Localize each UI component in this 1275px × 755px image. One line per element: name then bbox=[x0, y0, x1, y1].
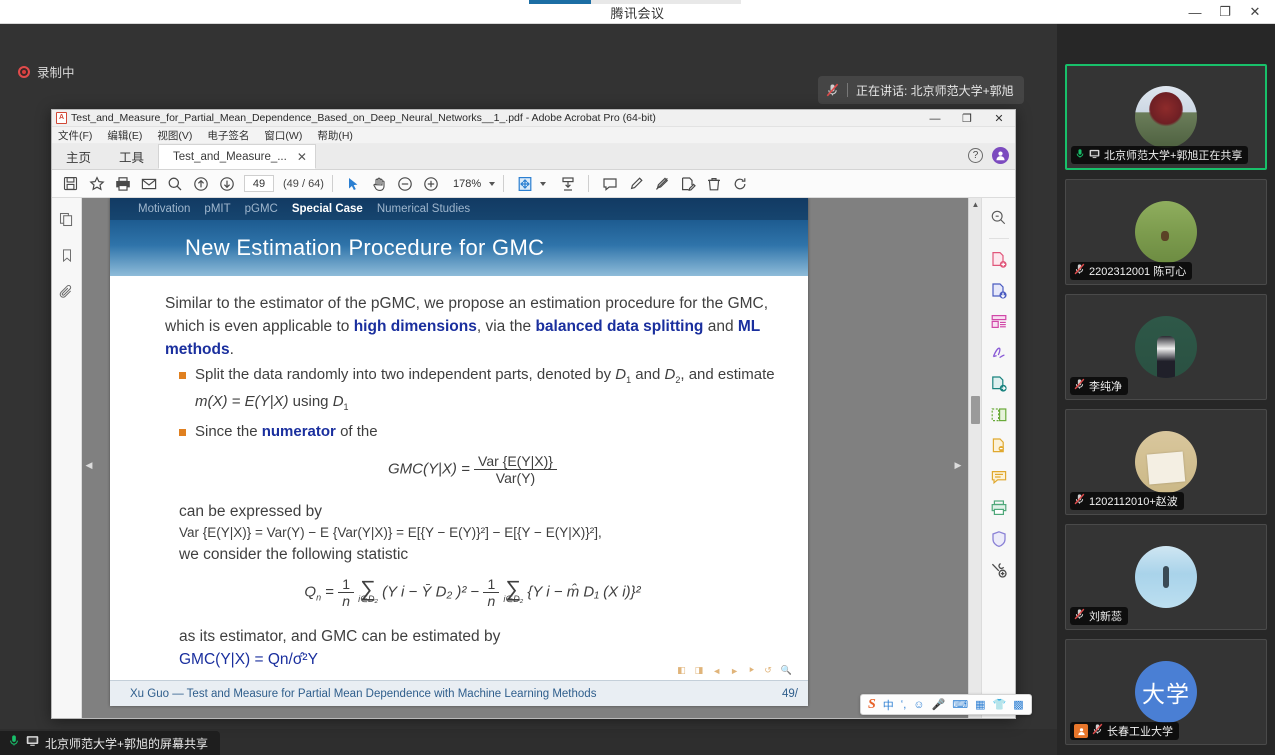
meeting-body: 陈可心 +8618812733626 陈可心 +8618812733626 陈可… bbox=[0, 24, 1275, 755]
pdf-canvas[interactable]: Motivation pMIT pGMC Special Case Numeri… bbox=[82, 198, 981, 718]
slide-footer-author-title: Xu Guo — Test and Measure for Partial Me… bbox=[130, 688, 596, 700]
avatar: 大学 bbox=[1135, 661, 1197, 723]
mic-on-icon bbox=[8, 734, 20, 752]
intro-highlight-high-dimensions: high dimensions bbox=[354, 318, 477, 335]
screen-root: 腾讯会议 — ❐ ✕ 陈可心 +8618812733626 陈可心 +86188… bbox=[0, 0, 1275, 755]
formula-qn-frac-1-num: 1 bbox=[338, 576, 354, 592]
zoom-in-icon[interactable] bbox=[419, 172, 444, 196]
rotate-icon[interactable] bbox=[727, 172, 752, 196]
mic-muted-icon bbox=[1074, 377, 1085, 395]
host-badge-icon bbox=[1074, 724, 1088, 738]
close-button[interactable]: ✕ bbox=[1241, 1, 1269, 23]
select-cursor-icon[interactable] bbox=[341, 172, 366, 196]
formula-gmc-denominator: Var(Y) bbox=[474, 469, 557, 486]
comment-tool-icon[interactable] bbox=[988, 466, 1010, 488]
chevron-down-icon[interactable] bbox=[489, 182, 495, 186]
formula-qn-frac-2-num: 1 bbox=[483, 576, 499, 592]
acrobat-tabbar: 主页 工具 Test_and_Measure_... ✕ ? bbox=[52, 144, 1015, 170]
bullet-1-text: Split the data randomly into two indepen… bbox=[195, 364, 780, 418]
screen-share-icon bbox=[1089, 146, 1100, 164]
keyboard-icon[interactable]: ⌨ bbox=[952, 698, 968, 711]
tab-home[interactable]: 主页 bbox=[52, 143, 105, 169]
nav-glyph-search[interactable]: 🔍 bbox=[781, 665, 792, 676]
participant-name-chip: 1202112010+赵波 bbox=[1070, 492, 1184, 510]
acrobat-tabbar-right: ? bbox=[968, 147, 1009, 164]
acrobat-menubar: 文件(F) 编辑(E) 视图(V) 电子签名 窗口(W) 帮助(H) bbox=[52, 127, 1015, 144]
nav-glyph-prev[interactable]: ◄ bbox=[712, 666, 721, 676]
slide-we-consider: we consider the following statistic bbox=[165, 543, 780, 566]
export-pdf-icon[interactable] bbox=[988, 280, 1010, 302]
acrobat-left-rail bbox=[52, 198, 82, 718]
pill-divider bbox=[847, 83, 848, 97]
attachments-icon[interactable] bbox=[57, 282, 76, 301]
b1-d2: D bbox=[665, 366, 676, 383]
acrobat-titlebar: A Test_and_Measure_for_Partial_Mean_Depe… bbox=[52, 110, 1015, 127]
print-icon[interactable] bbox=[110, 172, 135, 196]
tab-document[interactable]: Test_and_Measure_... ✕ bbox=[158, 144, 316, 169]
compare-files-icon[interactable] bbox=[988, 404, 1010, 426]
formula-qn-sum-2-sub: i∈D₂ bbox=[503, 594, 523, 605]
tab-close-icon[interactable]: ✕ bbox=[297, 150, 307, 164]
menu-view[interactable]: 视图(V) bbox=[155, 127, 194, 144]
slide-nav-pgmc: pGMC bbox=[245, 203, 278, 215]
formula-variance-decomposition: Var {E(Y|X)} = Var(Y) − E {Var(Y|X)} = E… bbox=[165, 523, 780, 543]
slide-intro-paragraph: Similar to the estimator of the pGMC, we… bbox=[165, 292, 780, 361]
minimize-button[interactable]: — bbox=[1181, 1, 1209, 23]
participant-filmstrip[interactable]: 北京师范大学+郭旭正在共享 2202312001 陈可心 bbox=[1057, 24, 1275, 755]
fit-chevron-down-icon[interactable] bbox=[540, 182, 546, 186]
bookmarks-icon[interactable] bbox=[57, 246, 76, 265]
slide-body: Similar to the estimator of the pGMC, we… bbox=[110, 280, 808, 680]
participant-name: 1202112010+赵波 bbox=[1089, 493, 1178, 509]
participant-tile[interactable]: 刘新蕊 bbox=[1065, 524, 1267, 630]
menu-help[interactable]: 帮助(H) bbox=[315, 127, 355, 144]
formula-qn-eq: = bbox=[325, 583, 334, 600]
avatar bbox=[1135, 201, 1197, 263]
erase-icon[interactable] bbox=[649, 172, 674, 196]
intro-part3: and bbox=[703, 318, 737, 335]
screen-share-icon bbox=[26, 734, 39, 752]
bullet-square-icon bbox=[179, 429, 186, 436]
tab-tools[interactable]: 工具 bbox=[105, 143, 158, 169]
b1-text-a: Split the data randomly into two indepen… bbox=[195, 366, 615, 383]
acrobat-close-button[interactable]: ✕ bbox=[983, 110, 1015, 127]
b1-formula: m(X) = E(Y|X) bbox=[195, 393, 289, 410]
sogou-ime-toolbar[interactable]: S 中 ʻ, ☺ 🎤 ⌨ ▦ 👕 ▩ bbox=[860, 694, 1032, 715]
nav-glyph-next[interactable]: ► bbox=[730, 666, 739, 676]
intro-part2: , via the bbox=[477, 318, 536, 335]
participant-name-chip: 2202312001 陈可心 bbox=[1070, 262, 1192, 280]
acrobat-window-controls: — ❐ ✕ bbox=[919, 110, 1015, 127]
adobe-acrobat-window: A Test_and_Measure_for_Partial_Mean_Depe… bbox=[51, 109, 1016, 719]
active-speaker-pill: 正在讲话: 北京师范大学+郭旭 bbox=[818, 76, 1024, 104]
app-title: 腾讯会议 bbox=[0, 3, 1275, 22]
formula-gmc-numerator: Var {E(Y|X)} bbox=[474, 453, 557, 469]
menu-window[interactable]: 窗口(W) bbox=[262, 127, 304, 144]
sign-icon[interactable] bbox=[675, 172, 700, 196]
participant-name: 北京师范大学+郭旭正在共享 bbox=[1104, 147, 1242, 163]
save-icon[interactable] bbox=[58, 172, 83, 196]
formula-qn-frac-1: 1 n bbox=[338, 576, 354, 609]
formula-gmc-lhs: GMC(Y|X) = bbox=[388, 460, 470, 477]
maximize-button[interactable]: ❐ bbox=[1211, 1, 1239, 23]
page-up-icon[interactable] bbox=[188, 172, 213, 196]
formula-qn-minus: − bbox=[471, 583, 480, 600]
mic-muted-icon bbox=[826, 83, 839, 97]
slide-bullet-1: Split the data randomly into two indepen… bbox=[165, 364, 780, 418]
menu-esign[interactable]: 电子签名 bbox=[205, 127, 251, 144]
formula-qn-frac-2-den: n bbox=[483, 592, 499, 609]
b1-text-c: , and estimate bbox=[680, 366, 774, 383]
formula-qn-lhs-sub: n bbox=[316, 592, 321, 602]
page-down-icon[interactable] bbox=[214, 172, 239, 196]
slide-section-nav: Motivation pMIT pGMC Special Case Numeri… bbox=[110, 198, 808, 220]
acrobat-maximize-button[interactable]: ❐ bbox=[951, 110, 983, 127]
nav-glyph-prev-section[interactable]: ◨ bbox=[695, 665, 704, 676]
acrobat-minimize-button[interactable]: — bbox=[919, 110, 951, 127]
avatar bbox=[1135, 546, 1197, 608]
toolbar-divider bbox=[503, 175, 504, 192]
page-thumbnails-icon[interactable] bbox=[57, 210, 76, 229]
print-production-icon[interactable] bbox=[988, 497, 1010, 519]
slide-nav-numerical-studies: Numerical Studies bbox=[377, 203, 470, 215]
slide-header-band: New Estimation Procedure for GMC bbox=[110, 220, 808, 276]
acrobat-title-text: Test_and_Measure_for_Partial_Mean_Depend… bbox=[71, 112, 656, 124]
security-shield-icon[interactable] bbox=[988, 528, 1010, 550]
b2-text-b: of the bbox=[336, 423, 378, 440]
sogou-logo-icon[interactable]: S bbox=[868, 697, 876, 713]
canvas-prev-page-arrow[interactable]: ◀ bbox=[84, 458, 94, 472]
b2-text-a: Since the bbox=[195, 423, 262, 440]
zoom-out-icon[interactable] bbox=[393, 172, 418, 196]
formula-qn-frac-1-den: n bbox=[338, 592, 354, 609]
formula-qn-lhs: Q bbox=[304, 583, 316, 600]
scroll-mode-icon[interactable] bbox=[555, 172, 580, 196]
window-controls: — ❐ ✕ bbox=[1181, 1, 1269, 23]
slide-nav-pmit: pMIT bbox=[204, 203, 230, 215]
fit-page-icon[interactable] bbox=[512, 172, 537, 196]
formula-qn-term-2: {Y i − m̂ D₁ (X i)}² bbox=[527, 583, 640, 600]
slide-can-be-expressed: can be expressed by bbox=[165, 500, 780, 523]
search-tool-icon[interactable] bbox=[988, 206, 1010, 228]
fill-sign-icon[interactable] bbox=[988, 342, 1010, 364]
participant-name-chip: 长春工业大学 bbox=[1070, 722, 1179, 740]
comment-icon[interactable] bbox=[597, 172, 622, 196]
slide-bullet-2: Since the numerator of the bbox=[165, 421, 780, 443]
participant-name-chip: 刘新蕊 bbox=[1070, 607, 1128, 625]
avatar bbox=[1135, 316, 1197, 378]
send-for-signature-icon[interactable] bbox=[988, 373, 1010, 395]
mic-muted-icon bbox=[1074, 607, 1085, 625]
recording-dot-icon bbox=[18, 66, 30, 78]
search-icon[interactable] bbox=[162, 172, 187, 196]
page-number-input[interactable]: 49 bbox=[244, 175, 274, 192]
panel-icon[interactable]: ▦ bbox=[975, 698, 985, 711]
formula-qn-term-1: (Y i − Ȳ D₂ )² bbox=[382, 583, 466, 600]
nav-glyph-first[interactable]: ◧ bbox=[677, 665, 686, 676]
participant-name: 刘新蕊 bbox=[1089, 608, 1122, 624]
create-pdf-icon[interactable] bbox=[988, 249, 1010, 271]
punct-icon[interactable]: ʻ, bbox=[901, 699, 907, 711]
skin-icon[interactable]: 👕 bbox=[993, 698, 1007, 711]
screen-share-banner: 北京师范大学+郭旭的屏幕共享 bbox=[0, 731, 220, 755]
mic-on-icon bbox=[1075, 146, 1085, 164]
canvas-next-page-arrow[interactable]: ▶ bbox=[953, 458, 963, 472]
tencent-meeting-titlebar: 腾讯会议 — ❐ ✕ bbox=[0, 0, 1275, 24]
participant-name-chip: 北京师范大学+郭旭正在共享 bbox=[1071, 146, 1248, 164]
intro-highlight-balanced-data-splitting: balanced data splitting bbox=[535, 318, 703, 335]
slide-nav-motivation: Motivation bbox=[138, 203, 190, 215]
shared-screen-stage: 陈可心 +8618812733626 陈可心 +8618812733626 陈可… bbox=[0, 24, 1057, 755]
b1-sub3: 1 bbox=[344, 402, 349, 412]
scrollbar-up-arrow-icon[interactable]: ▲ bbox=[969, 198, 981, 211]
pdf-page[interactable]: Motivation pMIT pGMC Special Case Numeri… bbox=[110, 198, 808, 706]
page-count-label: (49 / 64) bbox=[283, 178, 324, 190]
formula-qn: Qn = 1 n ∑ i∈D₂ bbox=[165, 576, 780, 609]
rail-divider bbox=[989, 238, 1009, 239]
b2-highlight-numerator: numerator bbox=[262, 423, 336, 440]
email-icon[interactable] bbox=[136, 172, 161, 196]
b1-text-b: and bbox=[631, 366, 664, 383]
zoom-level-label: 178% bbox=[453, 178, 481, 190]
mic-muted-icon bbox=[1074, 262, 1085, 280]
acrobat-app-icon: A bbox=[56, 112, 67, 124]
formula-qn-frac-2: 1 n bbox=[483, 576, 499, 609]
star-icon[interactable] bbox=[84, 172, 109, 196]
menu-file[interactable]: 文件(F) bbox=[56, 127, 94, 144]
participant-tile[interactable]: 大学 长春工业大学 bbox=[1065, 639, 1267, 745]
highlight-icon[interactable] bbox=[623, 172, 648, 196]
mic-muted-icon bbox=[1092, 722, 1103, 740]
mic-muted-icon bbox=[1074, 492, 1085, 510]
slide-footer: Xu Guo — Test and Measure for Partial Me… bbox=[110, 680, 808, 706]
formula-qn-sum-2: ∑ i∈D₂ bbox=[503, 580, 523, 606]
voice-icon[interactable]: 🎤 bbox=[932, 698, 946, 711]
slide-as-its-estimator: as its estimator, and GMC can be estimat… bbox=[165, 625, 780, 648]
acrobat-toolbar: 49 (49 / 64) bbox=[52, 170, 1015, 198]
protect-icon[interactable] bbox=[988, 435, 1010, 457]
organize-pages-icon[interactable] bbox=[988, 311, 1010, 333]
bullet-square-icon bbox=[179, 372, 186, 379]
participant-name-chip: 李纯净 bbox=[1070, 377, 1128, 395]
more-tools-icon[interactable] bbox=[988, 559, 1010, 581]
scrollbar-thumb[interactable] bbox=[971, 396, 980, 424]
slide-nav-special-case: Special Case bbox=[292, 203, 363, 215]
participant-tile[interactable]: 李纯净 bbox=[1065, 294, 1267, 400]
ime-mode-label[interactable]: 中 bbox=[883, 697, 894, 713]
hand-icon[interactable] bbox=[367, 172, 392, 196]
participant-name: 长春工业大学 bbox=[1107, 723, 1173, 739]
nav-glyph-back[interactable]: ↺ bbox=[764, 665, 772, 676]
b1-d1: D bbox=[615, 366, 626, 383]
formula-qn-sum-1-sub: i∈D₂ bbox=[358, 594, 378, 605]
recording-label: 录制中 bbox=[37, 62, 75, 81]
formula-qn-sum-1: ∑ i∈D₂ bbox=[358, 580, 378, 606]
formula-gmc: GMC(Y|X) = Var {E(Y|X)} Var(Y) bbox=[165, 453, 780, 486]
acrobat-main-area: Motivation pMIT pGMC Special Case Numeri… bbox=[52, 198, 1015, 718]
avatar bbox=[1135, 86, 1197, 148]
toolbar-divider bbox=[332, 175, 333, 192]
intro-part4: . bbox=[230, 341, 234, 358]
slide-footer-page-number: 49/ bbox=[782, 688, 798, 700]
delete-icon[interactable] bbox=[701, 172, 726, 196]
pdf-vertical-scrollbar[interactable]: ▲ ▼ bbox=[968, 198, 981, 718]
participant-name: 2202312001 陈可心 bbox=[1089, 263, 1186, 279]
zoom-level-control[interactable]: 178% bbox=[453, 178, 495, 190]
b1-text-d: using bbox=[289, 393, 333, 410]
tab-document-label: Test_and_Measure_... bbox=[173, 151, 287, 163]
toolbar-divider bbox=[588, 175, 589, 192]
recording-indicator[interactable]: 录制中 bbox=[18, 62, 75, 81]
participant-tile[interactable]: 2202312001 陈可心 bbox=[1065, 179, 1267, 285]
bullet-2-text: Since the numerator of the bbox=[195, 421, 378, 443]
menu-edit[interactable]: 编辑(E) bbox=[105, 127, 144, 144]
participant-tile[interactable]: 1202112010+赵波 bbox=[1065, 409, 1267, 515]
avatar bbox=[1135, 431, 1197, 493]
b1-d3: D bbox=[333, 393, 344, 410]
acrobat-right-rail bbox=[981, 198, 1015, 718]
nav-glyph-last[interactable]: ⯈ bbox=[748, 665, 755, 676]
user-avatar[interactable] bbox=[992, 147, 1009, 164]
apps-icon[interactable]: ▩ bbox=[1013, 698, 1023, 711]
beamer-nav-glyphs[interactable]: ◧ ◨ ◄ ► ⯈ ↺ 🔍 bbox=[677, 665, 792, 676]
participant-tile[interactable]: 北京师范大学+郭旭正在共享 bbox=[1065, 64, 1267, 170]
slide-title: New Estimation Procedure for GMC bbox=[185, 235, 544, 261]
formula-gmc-fraction: Var {E(Y|X)} Var(Y) bbox=[474, 453, 557, 486]
emoji-icon[interactable]: ☺ bbox=[913, 699, 924, 711]
active-speaker-label: 正在讲话: 北京师范大学+郭旭 bbox=[856, 82, 1014, 99]
participant-name: 李纯净 bbox=[1089, 378, 1122, 394]
help-icon[interactable]: ? bbox=[968, 148, 983, 163]
screen-share-label: 北京师范大学+郭旭的屏幕共享 bbox=[45, 735, 208, 752]
